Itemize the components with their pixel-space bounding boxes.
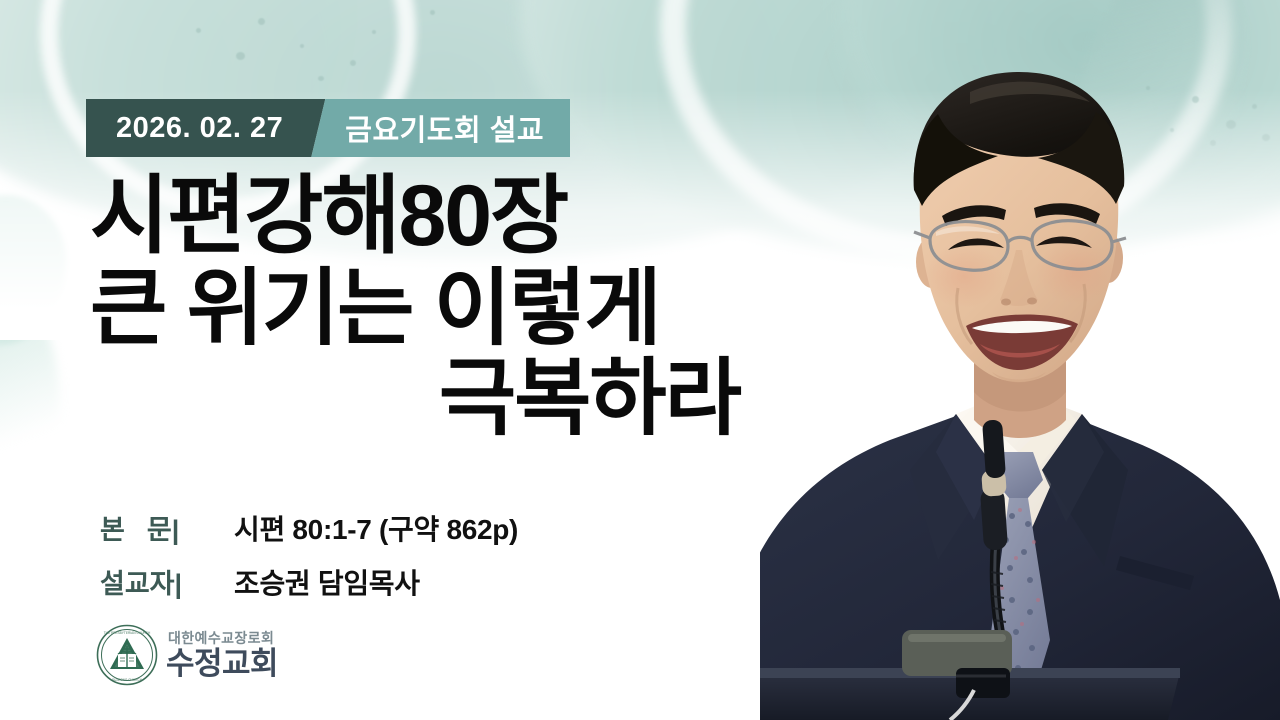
church-logo-text: 대한예수교장로회 수정교회 xyxy=(166,631,278,679)
ink-speck xyxy=(258,18,265,25)
meta-label-preacher: 설교자| xyxy=(100,562,218,601)
service-type-label: 금요기도회 설교 xyxy=(345,107,544,149)
sermon-title-card: 2026. 02. 27 금요기도회 설교 시편강해80장 큰 위기는 이렇게 … xyxy=(0,0,1280,720)
title-line-3: 극복하라 xyxy=(90,355,740,442)
church-seal-icon: THE PRESBYTERIAN CHURCH SUJEONG CHURCH xyxy=(96,624,158,686)
service-type-badge: 금요기도회 설교 xyxy=(311,99,570,157)
page-title: 시편강해80장 큰 위기는 이렇게 극복하라 xyxy=(90,172,740,442)
sermon-date-badge: 2026. 02. 27 xyxy=(86,99,325,157)
ink-speck xyxy=(300,44,304,48)
ink-speck xyxy=(236,52,245,60)
meta-label-scripture-text: 본 xyxy=(100,515,125,545)
sermon-date: 2026. 02. 27 xyxy=(116,112,283,145)
ink-speck xyxy=(196,28,201,33)
watercolor-tail-left xyxy=(0,300,60,480)
svg-text:THE PRESBYTERIAN CHURCH: THE PRESBYTERIAN CHURCH xyxy=(104,631,151,635)
ink-speck xyxy=(372,30,376,34)
meta-label-preacher-text: 설교자 xyxy=(100,569,175,599)
title-line-2: 큰 위기는 이렇게 xyxy=(90,265,740,352)
church-name: 수정교회 xyxy=(166,648,278,679)
ink-speck xyxy=(350,60,356,66)
meta-separator: | xyxy=(172,515,180,545)
denomination-name: 대한예수교장로회 xyxy=(168,631,278,645)
meta-value-preacher: 조승권 담임목사 xyxy=(234,562,420,602)
meta-row-preacher: 설교자| 조승권 담임목사 xyxy=(100,562,518,602)
meta-row-scripture: 본문| 시편 80:1-7 (구약 862p) xyxy=(100,508,518,548)
title-line-1: 시편강해80장 xyxy=(90,172,740,261)
pastor-photo xyxy=(760,0,1280,720)
watercolor-blob-left xyxy=(0,195,66,345)
ink-speck xyxy=(430,10,435,15)
church-logo: THE PRESBYTERIAN CHURCH SUJEONG CHURCH 대… xyxy=(96,624,278,686)
ink-speck xyxy=(318,76,324,81)
svg-text:SUJEONG CHURCH: SUJEONG CHURCH xyxy=(112,678,143,682)
meta-label-scripture: 본문| xyxy=(100,508,218,547)
meta-label-scripture-text2: 문 xyxy=(147,515,172,545)
meta-value-scripture: 시편 80:1-7 (구약 862p) xyxy=(234,508,518,548)
sermon-meta: 본문| 시편 80:1-7 (구약 862p) 설교자| 조승권 담임목사 xyxy=(100,508,518,616)
service-badge: 2026. 02. 27 금요기도회 설교 xyxy=(86,99,570,157)
meta-separator: | xyxy=(175,569,183,599)
